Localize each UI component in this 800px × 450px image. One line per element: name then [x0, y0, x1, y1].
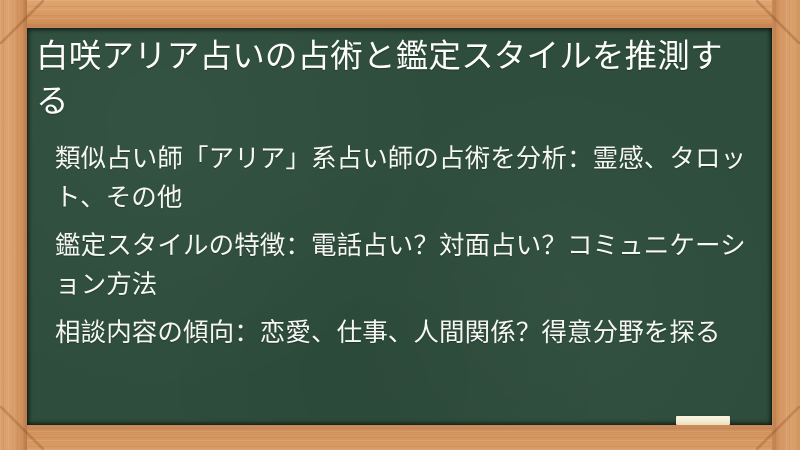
chalkboard-surface: 白咲アリア占いの占術と鑑定スタイルを推測する 類似占い師「アリア」系占い師の占術… [27, 28, 772, 425]
wood-frame-bottom-rail [0, 425, 800, 450]
wood-grain-texture [772, 0, 800, 450]
chalk-stick [676, 416, 730, 425]
wood-grain-texture [0, 0, 800, 28]
wood-grain-texture [0, 425, 800, 450]
wood-grain-texture [0, 0, 27, 450]
wood-frame-top-rail [0, 0, 800, 28]
wood-frame-right-stile [772, 0, 800, 450]
chalkboard-content: 白咲アリア占いの占術と鑑定スタイルを推測する 類似占い師「アリア」系占い師の占術… [27, 28, 772, 425]
topic-list: 類似占い師「アリア」系占い師の占術を分析：霊感、タロット、その他 鑑定スタイルの… [36, 140, 754, 353]
chalkboard-frame: 白咲アリア占いの占術と鑑定スタイルを推測する 類似占い師「アリア」系占い師の占術… [0, 0, 800, 450]
list-item: 類似占い師「アリア」系占い師の占術を分析：霊感、タロット、その他 [55, 140, 754, 218]
page-title: 白咲アリア占いの占術と鑑定スタイルを推測する [36, 34, 754, 124]
list-item: 相談内容の傾向：恋愛、仕事、人間関係？得意分野を探る [55, 314, 754, 353]
wood-frame-left-stile [0, 0, 27, 450]
list-item: 鑑定スタイルの特徴：電話占い？対面占い？コミュニケーション方法 [55, 227, 754, 305]
